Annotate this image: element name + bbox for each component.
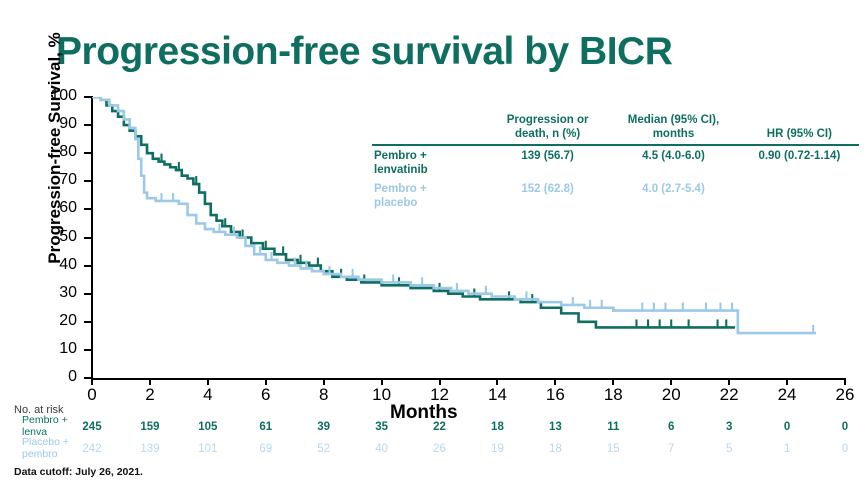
y-tick-label-10: 10 — [37, 340, 77, 358]
y-tick-60 — [84, 208, 92, 210]
y-tick-50 — [84, 237, 92, 239]
y-tick-label-80: 80 — [37, 143, 77, 161]
x-tick-label-6: 6 — [246, 385, 286, 405]
x-tick-10 — [381, 378, 383, 385]
no-at-risk-table: No. at risk Pembro + lenva 2451591056139… — [14, 404, 868, 461]
no-at-risk-value: 22 — [420, 421, 460, 433]
y-tick-label-30: 30 — [37, 284, 77, 302]
no-at-risk-value: 7 — [651, 443, 691, 455]
no-at-risk-value: 5 — [709, 443, 749, 455]
stats-row-placebo-hr — [740, 179, 859, 212]
no-at-risk-value: 139 — [130, 443, 170, 455]
y-tick-label-100: 100 — [37, 87, 77, 105]
page-title: Progression-free survival by BICR — [56, 30, 672, 74]
no-at-risk-value: 13 — [535, 421, 575, 433]
stats-row-lenvatinib-label-line2: lenvatinib — [374, 164, 486, 178]
no-at-risk-value: 40 — [362, 443, 402, 455]
no-at-risk-value: 19 — [477, 443, 517, 455]
x-tick-label-14: 14 — [477, 385, 517, 405]
x-tick-label-20: 20 — [651, 385, 691, 405]
stats-row-lenvatinib-label-line1: Pembro + — [374, 150, 486, 164]
y-tick-90 — [84, 124, 92, 126]
y-tick-label-20: 20 — [37, 312, 77, 330]
no-at-risk-value: 61 — [246, 421, 286, 433]
stats-row-placebo: Pembro + placebo 152 (62.8) 4.0 (2.7-5.4… — [372, 179, 859, 212]
x-tick-6 — [265, 378, 267, 385]
no-at-risk-title: No. at risk — [14, 404, 868, 416]
stats-table-body: Pembro + lenvatinib 139 (56.7) 4.5 (4.0-… — [372, 145, 859, 211]
stats-row-lenvatinib-hr: 0.90 (0.72-1.14) — [740, 145, 859, 179]
no-at-risk-row-lenvatinib: Pembro + lenva 2451591056139352218131163… — [14, 417, 868, 439]
no-at-risk-value: 245 — [72, 421, 112, 433]
y-tick-10 — [84, 349, 92, 351]
x-tick-20 — [670, 378, 672, 385]
no-at-risk-value: 35 — [362, 421, 402, 433]
no-at-risk-value: 0 — [825, 443, 865, 455]
stats-row-lenvatinib-events: 139 (56.7) — [488, 145, 607, 179]
y-tick-label-90: 90 — [37, 115, 77, 133]
stats-row-placebo-label-line1: Pembro + — [374, 183, 486, 197]
x-tick-label-24: 24 — [767, 385, 807, 405]
no-at-risk-value: 69 — [246, 443, 286, 455]
x-tick-26 — [844, 378, 846, 385]
y-tick-30 — [84, 293, 92, 295]
slide-canvas: Progression-free survival by BICR Progre… — [0, 0, 868, 487]
statistics-inset-table: Progression or death, n (%) Median (95% … — [372, 114, 859, 211]
y-tick-80 — [84, 152, 92, 154]
no-at-risk-value: 39 — [304, 421, 344, 433]
stats-row-lenvatinib-median: 4.5 (4.0-6.0) — [607, 145, 740, 179]
stats-header-events-line1: Progression or — [490, 114, 605, 128]
stats-header-hr-line1: HR (95% CI) — [742, 128, 857, 142]
stats-row-placebo-median: 4.0 (2.7-5.4) — [607, 179, 740, 212]
no-at-risk-value: 101 — [188, 443, 228, 455]
stats-row-lenvatinib-label: Pembro + lenvatinib — [372, 145, 488, 179]
x-tick-label-4: 4 — [188, 385, 228, 405]
y-tick-label-50: 50 — [37, 228, 77, 246]
no-at-risk-value: 52 — [304, 443, 344, 455]
x-axis-line — [91, 378, 846, 380]
stats-table-element: Progression or death, n (%) Median (95% … — [372, 114, 859, 211]
no-at-risk-value: 11 — [593, 421, 633, 433]
no-at-risk-value: 15 — [593, 443, 633, 455]
stats-header-hr: HR (95% CI) — [740, 114, 859, 145]
stats-header-arm — [372, 114, 488, 145]
x-tick-2 — [149, 378, 151, 385]
x-tick-label-8: 8 — [304, 385, 344, 405]
y-tick-20 — [84, 321, 92, 323]
stats-header-events: Progression or death, n (%) — [488, 114, 607, 145]
x-tick-18 — [612, 378, 614, 385]
y-tick-label-40: 40 — [37, 256, 77, 274]
x-tick-8 — [323, 378, 325, 385]
x-tick-12 — [439, 378, 441, 385]
no-at-risk-value: 3 — [709, 421, 749, 433]
stats-header-events-line2: death, n (%) — [490, 128, 605, 142]
no-at-risk-value: 105 — [188, 421, 228, 433]
stats-header-median: Median (95% CI), months — [607, 114, 740, 145]
x-tick-22 — [728, 378, 730, 385]
x-tick-label-22: 22 — [709, 385, 749, 405]
x-tick-24 — [786, 378, 788, 385]
stats-row-placebo-label-line2: placebo — [374, 197, 486, 211]
no-at-risk-value: 1 — [767, 443, 807, 455]
y-tick-label-70: 70 — [37, 171, 77, 189]
x-tick-0 — [91, 378, 93, 385]
x-tick-label-0: 0 — [72, 385, 112, 405]
stats-row-placebo-label: Pembro + placebo — [372, 179, 488, 212]
stats-header-median-line2: months — [609, 128, 738, 142]
x-tick-16 — [554, 378, 556, 385]
stats-header-row: Progression or death, n (%) Median (95% … — [372, 114, 859, 145]
no-at-risk-value: 0 — [825, 421, 865, 433]
x-tick-label-10: 10 — [362, 385, 402, 405]
no-at-risk-value: 6 — [651, 421, 691, 433]
no-at-risk-value: 0 — [767, 421, 807, 433]
no-at-risk-row-placebo: Placebo + pembro 24213910169524026191815… — [14, 439, 868, 461]
footnote: Data cutoff: July 26, 2021. — [14, 466, 143, 478]
stats-table-head: Progression or death, n (%) Median (95% … — [372, 114, 859, 145]
x-tick-label-16: 16 — [535, 385, 575, 405]
x-tick-label-18: 18 — [593, 385, 633, 405]
no-at-risk-value: 242 — [72, 443, 112, 455]
y-tick-100 — [84, 96, 92, 98]
x-tick-label-12: 12 — [420, 385, 460, 405]
no-at-risk-value: 26 — [420, 443, 460, 455]
y-tick-40 — [84, 265, 92, 267]
no-at-risk-value: 159 — [130, 421, 170, 433]
x-tick-label-26: 26 — [825, 385, 865, 405]
y-tick-label-60: 60 — [37, 199, 77, 217]
y-tick-label-0: 0 — [37, 368, 77, 386]
stats-row-placebo-events: 152 (62.8) — [488, 179, 607, 212]
no-at-risk-value: 18 — [477, 421, 517, 433]
stats-header-median-line1: Median (95% CI), — [609, 114, 738, 128]
x-tick-4 — [207, 378, 209, 385]
stats-row-lenvatinib: Pembro + lenvatinib 139 (56.7) 4.5 (4.0-… — [372, 145, 859, 179]
x-tick-14 — [496, 378, 498, 385]
no-at-risk-value: 18 — [535, 443, 575, 455]
y-tick-70 — [84, 180, 92, 182]
x-tick-label-2: 2 — [130, 385, 170, 405]
